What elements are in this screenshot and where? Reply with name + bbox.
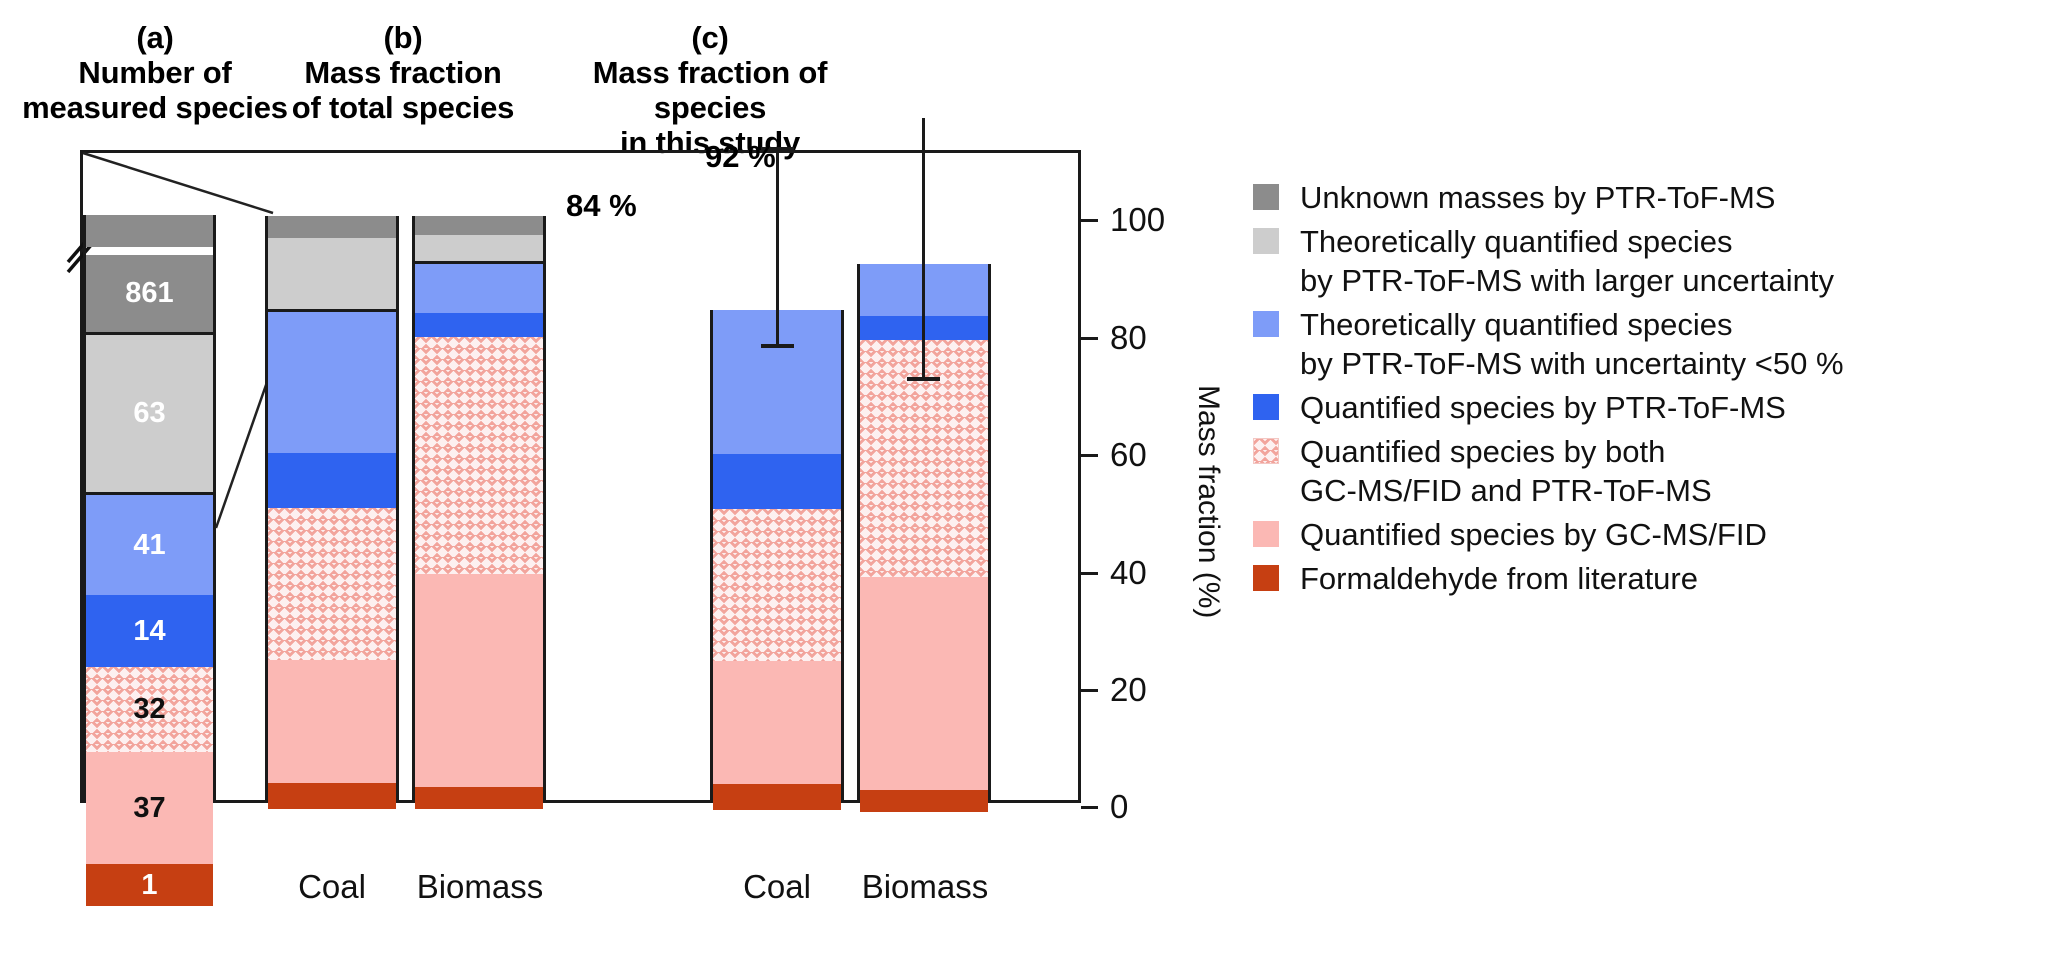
panel-title-a-line2: measured species xyxy=(20,90,290,125)
panel-title-a-line1: Number of xyxy=(20,55,290,90)
segment-b-coal-theo-large xyxy=(268,238,396,312)
bar-b-biomass xyxy=(412,216,546,803)
segment-c-coal-quant-ptr xyxy=(713,454,841,509)
tick-label-60: 60 xyxy=(1110,438,1147,471)
segment-c-coal-quant-gc xyxy=(713,661,841,784)
segment-a-quant-gc: 37 xyxy=(86,752,213,864)
tick-label-80: 80 xyxy=(1110,321,1147,354)
segment-b-coal-theo-50 xyxy=(268,312,396,453)
category-label-b-coal: Coal xyxy=(262,870,402,903)
segment-b-biomass-quant-both xyxy=(415,337,543,574)
error-bar-c-biomass-line xyxy=(922,118,925,380)
segment-b-biomass-unknown xyxy=(415,216,543,235)
tick-100 xyxy=(1081,219,1098,222)
legend-item-unknown-masses[interactable]: Unknown masses by PTR-ToF-MS xyxy=(1253,178,2053,217)
tick-60 xyxy=(1081,454,1098,457)
legend-item-unknown-masses-label: Unknown masses by PTR-ToF-MS xyxy=(1300,178,1775,217)
legend-item-quantified-both[interactable]: Quantified species by both GC-MS/FID and… xyxy=(1253,432,2053,510)
segment-b-coal-quant-gc xyxy=(268,660,396,783)
segment-c-coal-formaldehyde xyxy=(713,784,841,810)
tick-80 xyxy=(1081,337,1098,340)
legend-item-formaldehyde-label: Formaldehyde from literature xyxy=(1300,559,1698,598)
formaldehyde-swatch xyxy=(1253,565,1279,591)
panel-tag-c: (c) xyxy=(535,20,885,55)
legend-item-theoretically-quantified-under50-label: Theoretically quantified species by PTR-… xyxy=(1300,305,1844,383)
segment-b-biomass-theo-large xyxy=(415,235,543,264)
segment-b-coal-formaldehyde xyxy=(268,783,396,809)
error-bar-c-coal-cap-bottom xyxy=(761,344,794,348)
unknown-masses-swatch xyxy=(1253,184,1279,210)
legend-item-quantified-gc-label: Quantified species by GC-MS/FID xyxy=(1300,515,1767,554)
category-label-c-coal: Coal xyxy=(707,870,847,903)
legend-item-quantified-both-label: Quantified species by both GC-MS/FID and… xyxy=(1300,432,1712,510)
figure: (a) Number of measured species (b) Mass … xyxy=(0,0,2067,959)
segment-c-coal-quant-both xyxy=(713,509,841,661)
segment-a-quant-both-value: 32 xyxy=(133,695,165,724)
quantified-gc-swatch xyxy=(1253,521,1279,547)
y-axis-label: Mass fraction (%) xyxy=(1191,385,1225,618)
error-bar-c-biomass-cap-bottom xyxy=(907,377,940,381)
bar-c-coal xyxy=(710,310,844,803)
label-c-biomass-percent: 92 % xyxy=(705,141,776,172)
legend-item-theoretically-quantified-large-uncertainty-label: Theoretically quantified species by PTR-… xyxy=(1300,222,1834,300)
tick-20 xyxy=(1081,689,1098,692)
tick-0 xyxy=(1081,806,1098,809)
segment-c-biomass-quant-gc xyxy=(860,577,988,790)
category-label-b-biomass: Biomass xyxy=(405,870,555,903)
tick-label-40: 40 xyxy=(1110,556,1147,589)
theoretically-quantified-under50-swatch xyxy=(1253,311,1279,337)
panel-title-b-line1: Mass fraction xyxy=(283,55,523,90)
category-label-c-biomass: Biomass xyxy=(850,870,1000,903)
bar-b-coal xyxy=(265,216,399,803)
tick-label-100: 100 xyxy=(1110,203,1165,236)
legend-item-formaldehyde[interactable]: Formaldehyde from literature xyxy=(1253,559,2053,598)
theoretically-quantified-large-uncertainty-swatch xyxy=(1253,228,1279,254)
tick-label-20: 20 xyxy=(1110,673,1147,706)
panel-title-b: (b) Mass fraction of total species xyxy=(283,20,523,125)
segment-b-biomass-quant-ptr xyxy=(415,313,543,337)
quantified-both-swatch xyxy=(1253,438,1279,464)
segment-a-quant-ptr-value: 14 xyxy=(133,617,165,646)
segment-b-biomass-formaldehyde xyxy=(415,787,543,809)
legend: Unknown masses by PTR-ToF-MS Theoretical… xyxy=(1253,178,2053,603)
panel-tag-a: (a) xyxy=(20,20,290,55)
segment-b-biomass-quant-gc xyxy=(415,574,543,787)
legend-item-theoretically-quantified-large-uncertainty[interactable]: Theoretically quantified species by PTR-… xyxy=(1253,222,2053,300)
segment-c-biomass-formaldehyde xyxy=(860,790,988,812)
segment-a-formaldehyde: 1 xyxy=(86,864,213,906)
segment-b-coal-quant-ptr xyxy=(268,453,396,508)
segment-a-quant-both: 32 xyxy=(86,667,213,752)
quantified-ptr-swatch xyxy=(1253,394,1279,420)
panel-title-b-line2: of total species xyxy=(283,90,523,125)
legend-item-theoretically-quantified-under50[interactable]: Theoretically quantified species by PTR-… xyxy=(1253,305,2053,383)
segment-b-biomass-theo-50 xyxy=(415,264,543,313)
segment-b-coal-quant-both xyxy=(268,508,396,660)
tick-40 xyxy=(1081,572,1098,575)
segment-a-formaldehyde-value: 1 xyxy=(141,871,157,900)
tick-label-0: 0 xyxy=(1110,790,1128,823)
panel-title-a: (a) Number of measured species xyxy=(20,20,290,125)
segment-a-quant-gc-value: 37 xyxy=(133,794,165,823)
label-c-coal-percent: 84 % xyxy=(566,190,637,221)
legend-item-quantified-ptr-label: Quantified species by PTR-ToF-MS xyxy=(1300,388,1786,427)
panel-title-c-line1: Mass fraction of species xyxy=(535,55,885,125)
legend-item-quantified-gc[interactable]: Quantified species by GC-MS/FID xyxy=(1253,515,2053,554)
legend-item-quantified-ptr[interactable]: Quantified species by PTR-ToF-MS xyxy=(1253,388,2053,427)
panel-tag-b: (b) xyxy=(283,20,523,55)
error-bar-c-coal-line xyxy=(776,147,779,347)
segment-b-coal-unknown xyxy=(268,216,396,238)
